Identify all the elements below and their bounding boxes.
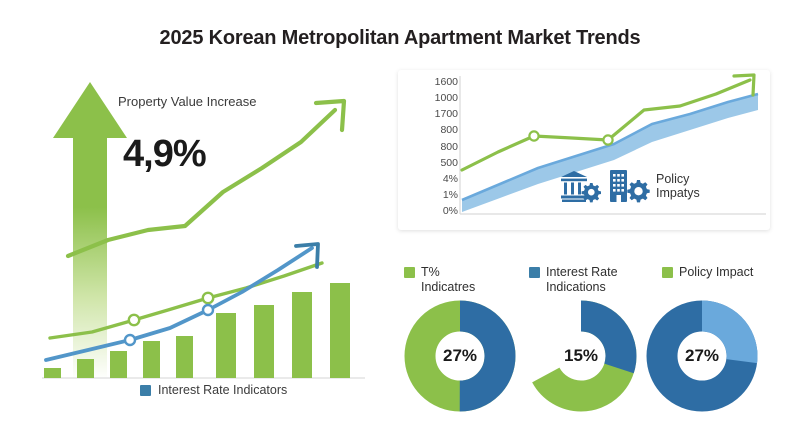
legend-swatch-interest-rate-donut (529, 267, 540, 278)
bar-chart-legend: Interest Rate Indicators (140, 383, 287, 397)
donut-legend-item-t-indicators[interactable]: T% Indicatres (404, 265, 475, 295)
legend-label-interest-rate-donut: Interest Rate Indications (546, 265, 618, 295)
legend-swatch-t-indicators (404, 267, 415, 278)
y-tick: 1600 (435, 74, 458, 90)
donut-t-indicators[interactable]: 27% (404, 300, 516, 412)
policy-label-line1: Policy (656, 172, 700, 186)
donut-policy-impact[interactable]: 27% (646, 300, 758, 412)
infographic-canvas: 2025 Korean Metropolitan Apartment Marke… (0, 0, 800, 436)
y-tick: 800 (440, 139, 458, 155)
policy-impact-block: Policy Impatys (560, 166, 700, 206)
y-tick: 800 (440, 123, 458, 139)
left-trend-chart (30, 70, 380, 400)
building-gear-icon (608, 166, 650, 206)
donut-chart-group: 27% 15% 27% (398, 300, 770, 412)
legend-label-t-indicators: T% Indicatres (421, 265, 475, 295)
middle-green-trend (50, 263, 322, 338)
legend-label-line1: T% (421, 265, 440, 279)
y-tick: 1000 (435, 90, 458, 106)
legend-swatch-policy-impact (662, 267, 673, 278)
page-title: 2025 Korean Metropolitan Apartment Marke… (0, 27, 800, 50)
legend-swatch-interest-rate (140, 385, 151, 396)
bank-gear-icon (560, 166, 602, 206)
y-tick: 500 (440, 155, 458, 171)
legend-label-line2: Indications (546, 280, 606, 294)
upper-green-trend (68, 101, 344, 256)
y-tick: 0% (443, 204, 458, 220)
donut-legend-item-interest-rate[interactable]: Interest Rate Indications (529, 265, 618, 295)
y-tick: 4% (443, 171, 458, 187)
donut-interest-rate[interactable]: 15% (525, 300, 637, 412)
legend-label-line2: Indicatres (421, 280, 475, 294)
legend-label-line1: Interest Rate (546, 265, 618, 279)
policy-label-line2: Impatys (656, 186, 700, 200)
bar-series (44, 283, 350, 378)
y-tick: 1700 (435, 106, 458, 122)
legend-label-policy-impact: Policy Impact (679, 265, 753, 280)
donut-legend-item-policy-impact[interactable]: Policy Impact (662, 265, 753, 280)
legend-label-interest-rate: Interest Rate Indicators (158, 383, 287, 397)
left-panel: Property Value Increase 4,9% (30, 70, 380, 415)
policy-impact-label: Policy Impatys (656, 172, 700, 200)
policy-trend-card: 1600 1000 1700 800 800 500 4% 1% 0% (398, 70, 770, 230)
y-axis-tick-labels: 1600 1000 1700 800 800 500 4% 1% 0% (398, 74, 458, 220)
donut-legend: T% Indicatres Interest Rate Indications … (398, 265, 770, 301)
y-tick: 1% (443, 187, 458, 203)
